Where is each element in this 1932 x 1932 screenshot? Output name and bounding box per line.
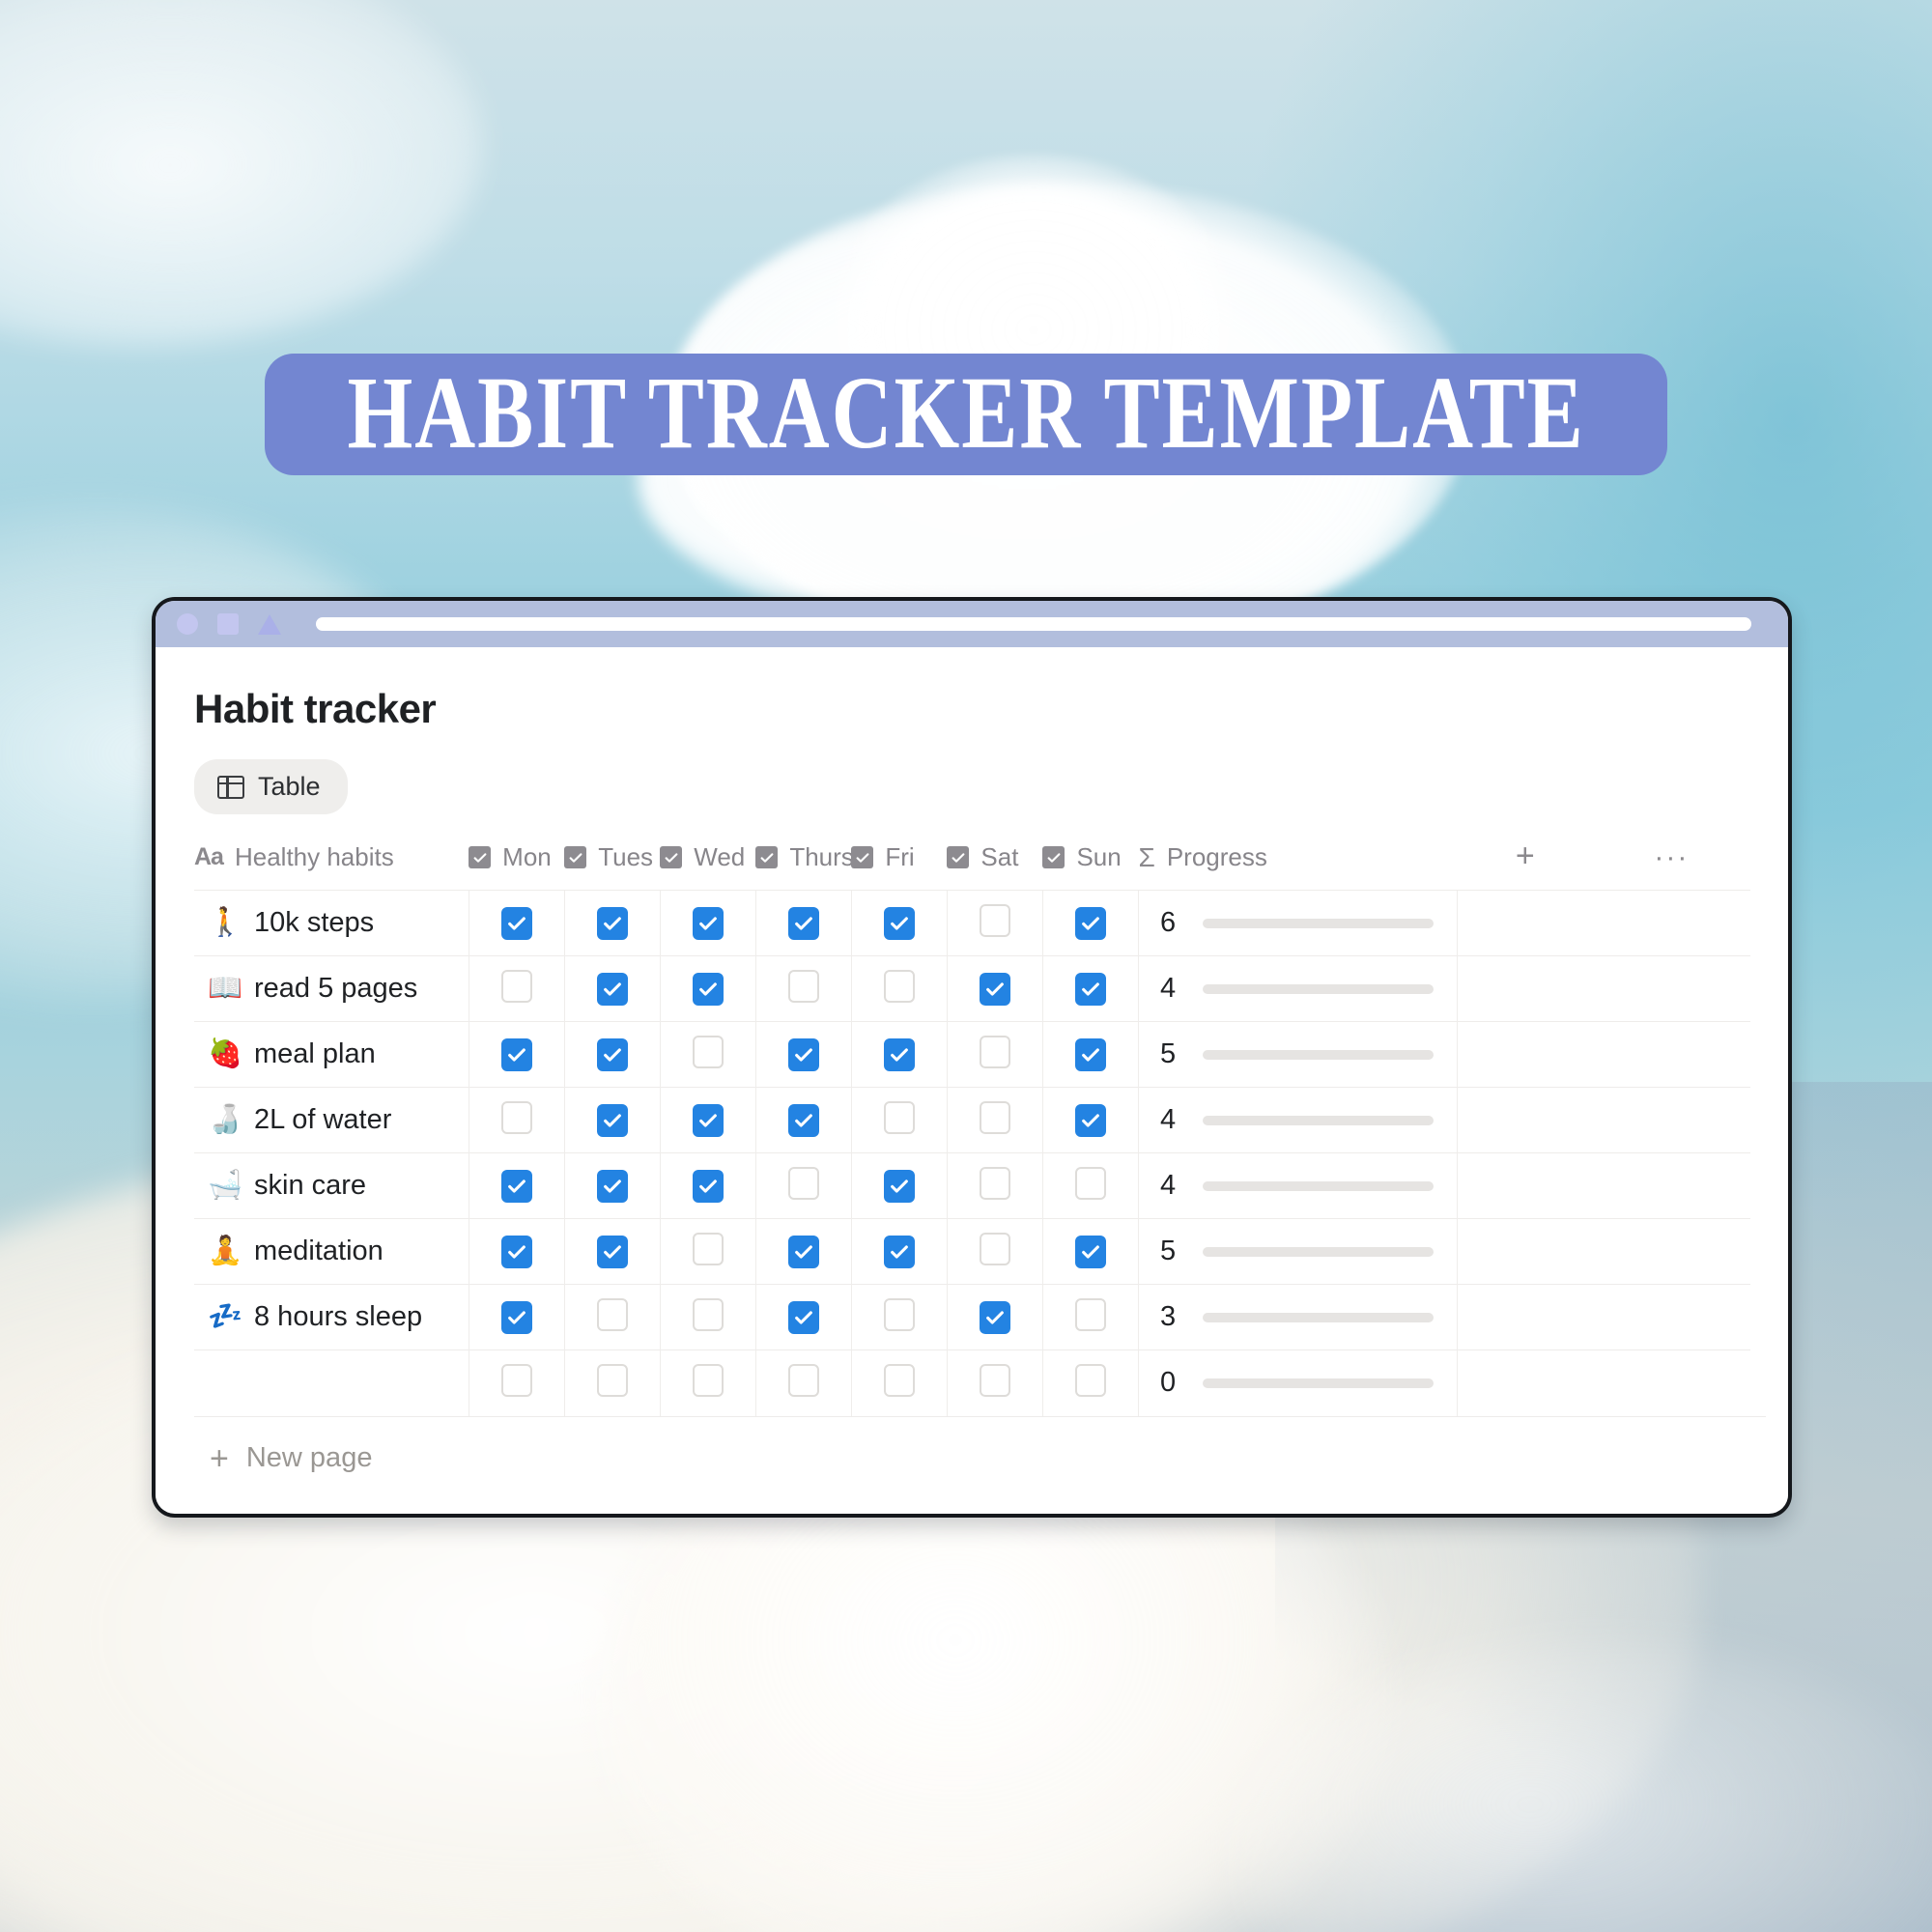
table-row[interactable]: 🍓meal plan5 — [194, 1022, 1750, 1088]
checkbox-cell-sat[interactable] — [947, 1088, 1042, 1153]
table-row[interactable]: 💤8 hours sleep3 — [194, 1285, 1750, 1350]
checkbox-sun-unchecked[interactable] — [1075, 1167, 1106, 1200]
circle-control-icon[interactable] — [177, 613, 198, 635]
habit-name-cell[interactable]: 🛁skin care — [194, 1153, 469, 1219]
checkbox-tues-checked[interactable] — [597, 1170, 628, 1203]
column-header-wed[interactable]: Wed — [660, 839, 755, 891]
checkbox-wed-unchecked[interactable] — [693, 1298, 724, 1331]
habit-name-label: meditation — [254, 1236, 384, 1267]
table-header: Aa Healthy habits Mon — [194, 839, 1750, 891]
progress-bar — [1203, 984, 1434, 994]
progress-cell: 5 — [1139, 1219, 1458, 1285]
table-row[interactable]: 🧘meditation5 — [194, 1219, 1750, 1285]
checkbox-mon-checked[interactable] — [501, 907, 532, 940]
empty-cell — [1458, 1219, 1593, 1285]
checkbox-cell-sat[interactable] — [947, 1285, 1042, 1350]
checkbox-cell-sun[interactable] — [1042, 956, 1138, 1022]
meditation-emoji: 🧘 — [208, 1237, 239, 1265]
column-header-fri-label: Fri — [885, 842, 914, 872]
sleep-zzz-emoji: 💤 — [208, 1303, 239, 1331]
checkbox-icon — [851, 846, 873, 868]
banner-title: HABIT TRACKER TEMPLATE — [347, 362, 1584, 466]
empty-cell — [1593, 1285, 1750, 1350]
habit-name-cell[interactable] — [194, 1350, 469, 1416]
progress-bar — [1203, 1181, 1434, 1191]
checkbox-cell-tues[interactable] — [564, 1350, 660, 1416]
checkbox-cell-thurs[interactable] — [755, 1350, 851, 1416]
checkbox-sat-unchecked[interactable] — [980, 1036, 1010, 1068]
add-column-button[interactable]: + — [1458, 839, 1593, 891]
habit-name-label: 8 hours sleep — [254, 1301, 422, 1333]
empty-cell — [1593, 1350, 1750, 1416]
checkbox-sun-checked[interactable] — [1075, 1038, 1106, 1071]
checkbox-cell-fri[interactable] — [851, 1022, 947, 1088]
checkbox-cell-thurs[interactable] — [755, 1219, 851, 1285]
empty-cell — [1593, 1153, 1750, 1219]
habit-name-cell[interactable]: 📖read 5 pages — [194, 956, 469, 1022]
column-header-tues-label: Tues — [598, 842, 653, 872]
habit-name-cell[interactable]: 🚶10k steps — [194, 891, 469, 956]
checkbox-sun-unchecked[interactable] — [1075, 1364, 1106, 1397]
checkbox-cell-wed[interactable] — [660, 1285, 755, 1350]
progress-value: 4 — [1160, 1170, 1181, 1202]
checkbox-cell-tues[interactable] — [564, 1219, 660, 1285]
banner: HABIT TRACKER TEMPLATE — [265, 354, 1667, 475]
checkbox-cell-tues[interactable] — [564, 1153, 660, 1219]
checkbox-thurs-checked[interactable] — [788, 1301, 819, 1334]
progress-value: 5 — [1160, 1038, 1181, 1070]
checkbox-cell-wed[interactable] — [660, 956, 755, 1022]
checkbox-cell-sun[interactable] — [1042, 1153, 1138, 1219]
checkbox-tues-checked[interactable] — [597, 1038, 628, 1071]
checkbox-cell-sun[interactable] — [1042, 1022, 1138, 1088]
progress-bar — [1203, 1116, 1434, 1125]
table-row[interactable]: 0 — [194, 1350, 1750, 1416]
checkbox-cell-sun[interactable] — [1042, 891, 1138, 956]
progress-value: 5 — [1160, 1236, 1181, 1267]
progress-bar — [1203, 1313, 1434, 1322]
progress-cell: 4 — [1139, 956, 1458, 1022]
checkbox-cell-thurs[interactable] — [755, 1088, 851, 1153]
checkbox-cell-sat[interactable] — [947, 956, 1042, 1022]
column-header-thurs-label: Thurs — [789, 842, 853, 872]
checkbox-tues-unchecked[interactable] — [597, 1298, 628, 1331]
checkbox-icon — [660, 846, 682, 868]
checkbox-wed-unchecked[interactable] — [693, 1364, 724, 1397]
checkbox-cell-wed[interactable] — [660, 1153, 755, 1219]
open-book-emoji: 📖 — [208, 975, 239, 1003]
habit-name-label: read 5 pages — [254, 973, 417, 1005]
checkbox-mon-checked[interactable] — [501, 1038, 532, 1071]
checkbox-sun-checked[interactable] — [1075, 1236, 1106, 1268]
habit-name-cell[interactable]: 🍶2L of water — [194, 1088, 469, 1153]
checkbox-wed-unchecked[interactable] — [693, 1036, 724, 1068]
progress-cell: 4 — [1139, 1153, 1458, 1219]
text-aa-icon: Aa — [194, 843, 223, 871]
checkbox-sun-checked[interactable] — [1075, 973, 1106, 1006]
plus-icon: + — [1516, 839, 1535, 872]
empty-cell — [1593, 891, 1750, 956]
checkbox-cell-fri[interactable] — [851, 1285, 947, 1350]
checkbox-cell-fri[interactable] — [851, 1219, 947, 1285]
empty-cell — [1458, 956, 1593, 1022]
checkbox-cell-mon[interactable] — [469, 956, 564, 1022]
checkbox-sat-unchecked[interactable] — [980, 1364, 1010, 1397]
walking-person-emoji: 🚶 — [208, 909, 239, 937]
checkbox-cell-fri[interactable] — [851, 1088, 947, 1153]
progress-value: 6 — [1160, 907, 1181, 939]
checkbox-sun-checked[interactable] — [1075, 907, 1106, 940]
triangle-control-icon[interactable] — [258, 614, 281, 635]
progress-cell: 5 — [1139, 1022, 1458, 1088]
checkbox-tues-checked[interactable] — [597, 907, 628, 940]
checkbox-tues-checked[interactable] — [597, 1104, 628, 1137]
checkbox-cell-fri[interactable] — [851, 1350, 947, 1416]
column-header-sat[interactable]: Sat — [947, 839, 1042, 891]
progress-cell: 4 — [1139, 1088, 1458, 1153]
checkbox-cell-thurs[interactable] — [755, 1153, 851, 1219]
checkbox-cell-wed[interactable] — [660, 891, 755, 956]
ellipsis-icon: ··· — [1654, 843, 1689, 872]
habit-name-label: 2L of water — [254, 1104, 391, 1136]
checkbox-sun-unchecked[interactable] — [1075, 1298, 1106, 1331]
table-row[interactable]: 🛁skin care4 — [194, 1153, 1750, 1219]
empty-cell — [1458, 1088, 1593, 1153]
column-header-mon[interactable]: Mon — [469, 839, 564, 891]
checkbox-mon-unchecked[interactable] — [501, 1364, 532, 1397]
checkbox-cell-tues[interactable] — [564, 1285, 660, 1350]
checkbox-icon — [469, 846, 491, 868]
sigma-icon: Σ — [1139, 844, 1155, 871]
habit-name-cell[interactable]: 🍓meal plan — [194, 1022, 469, 1088]
table-row[interactable]: 🍶2L of water4 — [194, 1088, 1750, 1153]
checkbox-icon — [564, 846, 586, 868]
checkbox-cell-thurs[interactable] — [755, 1022, 851, 1088]
checkbox-mon-checked[interactable] — [501, 1170, 532, 1203]
new-page-button[interactable]: + New page — [194, 1416, 1766, 1475]
notion-page: Habit tracker Table — [156, 647, 1788, 1510]
checkbox-thurs-checked[interactable] — [788, 1038, 819, 1071]
checkbox-cell-mon[interactable] — [469, 1088, 564, 1153]
browser-chrome — [156, 601, 1788, 647]
checkbox-cell-mon[interactable] — [469, 1285, 564, 1350]
checkbox-thurs-checked[interactable] — [788, 1236, 819, 1268]
checkbox-fri-checked[interactable] — [884, 907, 915, 940]
column-header-sun[interactable]: Sun — [1042, 839, 1138, 891]
progress-value: 3 — [1160, 1301, 1181, 1333]
habit-name-cell[interactable]: 🧘meditation — [194, 1219, 469, 1285]
table-more-options-button[interactable]: ··· — [1593, 839, 1750, 891]
table-body: 🚶10k steps6📖read 5 pages4🍓meal plan5🍶2L … — [194, 891, 1750, 1416]
habit-name-label: meal plan — [254, 1038, 376, 1070]
progress-value: 0 — [1160, 1367, 1181, 1399]
empty-cell — [1458, 1153, 1593, 1219]
column-header-progress[interactable]: Σ Progress — [1139, 839, 1458, 891]
checkbox-mon-unchecked[interactable] — [501, 1101, 532, 1134]
checkbox-fri-checked[interactable] — [884, 1236, 915, 1268]
checkbox-cell-mon[interactable] — [469, 1022, 564, 1088]
checkbox-cell-sat[interactable] — [947, 891, 1042, 956]
habit-table: Aa Healthy habits Mon — [194, 839, 1750, 1416]
checkbox-cell-sat[interactable] — [947, 1022, 1042, 1088]
habit-name-cell[interactable]: 💤8 hours sleep — [194, 1285, 469, 1350]
browser-window: Habit tracker Table — [152, 597, 1792, 1518]
table-row[interactable]: 🚶10k steps6 — [194, 891, 1750, 956]
column-header-name-label: Healthy habits — [235, 842, 394, 872]
column-header-wed-label: Wed — [694, 842, 745, 872]
bathtub-emoji: 🛁 — [208, 1172, 239, 1200]
checkbox-icon — [947, 846, 969, 868]
empty-cell — [1458, 1350, 1593, 1416]
checkbox-tues-unchecked[interactable] — [597, 1364, 628, 1397]
square-control-icon[interactable] — [217, 613, 239, 635]
checkbox-thurs-checked[interactable] — [788, 907, 819, 940]
checkbox-cell-tues[interactable] — [564, 1088, 660, 1153]
column-header-sun-label: Sun — [1076, 842, 1121, 872]
column-header-tues[interactable]: Tues — [564, 839, 660, 891]
checkbox-sun-checked[interactable] — [1075, 1104, 1106, 1137]
checkbox-thurs-checked[interactable] — [788, 1104, 819, 1137]
checkbox-cell-mon[interactable] — [469, 891, 564, 956]
address-bar[interactable] — [316, 617, 1751, 631]
page-title: Habit tracker — [194, 686, 1749, 732]
checkbox-cell-tues[interactable] — [564, 956, 660, 1022]
column-header-sat-label: Sat — [980, 842, 1018, 872]
progress-value: 4 — [1160, 1104, 1181, 1136]
checkbox-mon-checked[interactable] — [501, 1301, 532, 1334]
progress-cell: 3 — [1139, 1285, 1458, 1350]
checkbox-cell-tues[interactable] — [564, 1022, 660, 1088]
checkbox-wed-unchecked[interactable] — [693, 1233, 724, 1265]
checkbox-fri-checked[interactable] — [884, 1038, 915, 1071]
tab-table-label: Table — [258, 772, 321, 802]
checkbox-fri-unchecked[interactable] — [884, 1364, 915, 1397]
checkbox-thurs-unchecked[interactable] — [788, 1364, 819, 1397]
tab-table[interactable]: Table — [194, 759, 348, 814]
checkbox-sat-unchecked[interactable] — [980, 904, 1010, 937]
habit-name-label: 10k steps — [254, 907, 374, 939]
empty-cell — [1593, 1022, 1750, 1088]
checkbox-cell-wed[interactable] — [660, 1088, 755, 1153]
checkbox-cell-fri[interactable] — [851, 891, 947, 956]
checkbox-wed-checked[interactable] — [693, 1104, 724, 1137]
checkbox-cell-wed[interactable] — [660, 1219, 755, 1285]
column-header-progress-label: Progress — [1167, 842, 1267, 872]
table-row[interactable]: 📖read 5 pages4 — [194, 956, 1750, 1022]
checkbox-sat-unchecked[interactable] — [980, 1101, 1010, 1134]
column-header-thurs[interactable]: Thurs — [755, 839, 851, 891]
empty-cell — [1593, 956, 1750, 1022]
checkbox-cell-sun[interactable] — [1042, 1219, 1138, 1285]
progress-value: 4 — [1160, 973, 1181, 1005]
water-bottle-emoji: 🍶 — [208, 1106, 239, 1134]
checkbox-wed-checked[interactable] — [693, 1170, 724, 1203]
checkbox-cell-thurs[interactable] — [755, 891, 851, 956]
checkbox-sat-checked[interactable] — [980, 973, 1010, 1006]
progress-bar — [1203, 1050, 1434, 1060]
checkbox-wed-checked[interactable] — [693, 973, 724, 1006]
checkbox-cell-sun[interactable] — [1042, 1350, 1138, 1416]
checkbox-cell-sun[interactable] — [1042, 1088, 1138, 1153]
checkbox-cell-mon[interactable] — [469, 1219, 564, 1285]
checkbox-thurs-unchecked[interactable] — [788, 970, 819, 1003]
view-tabs: Table — [194, 759, 1749, 814]
checkbox-cell-wed[interactable] — [660, 1022, 755, 1088]
checkbox-fri-unchecked[interactable] — [884, 970, 915, 1003]
checkbox-wed-checked[interactable] — [693, 907, 724, 940]
checkbox-fri-unchecked[interactable] — [884, 1298, 915, 1331]
new-page-label: New page — [246, 1442, 373, 1474]
column-header-name[interactable]: Aa Healthy habits — [194, 839, 469, 891]
checkbox-cell-thurs[interactable] — [755, 956, 851, 1022]
checkbox-sat-unchecked[interactable] — [980, 1167, 1010, 1200]
checkbox-cell-mon[interactable] — [469, 1153, 564, 1219]
checkbox-mon-unchecked[interactable] — [501, 970, 532, 1003]
empty-cell — [1458, 1285, 1593, 1350]
progress-cell: 0 — [1139, 1350, 1458, 1416]
checkbox-cell-sat[interactable] — [947, 1153, 1042, 1219]
checkbox-icon — [1042, 846, 1065, 868]
column-header-fri[interactable]: Fri — [851, 839, 947, 891]
checkbox-thurs-unchecked[interactable] — [788, 1167, 819, 1200]
checkbox-tues-checked[interactable] — [597, 973, 628, 1006]
checkbox-cell-fri[interactable] — [851, 956, 947, 1022]
checkbox-icon — [755, 846, 778, 868]
checkbox-fri-checked[interactable] — [884, 1170, 915, 1203]
checkbox-cell-tues[interactable] — [564, 891, 660, 956]
checkbox-cell-wed[interactable] — [660, 1350, 755, 1416]
empty-cell — [1458, 891, 1593, 956]
checkbox-sat-checked[interactable] — [980, 1301, 1010, 1334]
plus-icon: + — [210, 1442, 229, 1475]
progress-bar — [1203, 1378, 1434, 1388]
window-controls — [177, 613, 281, 635]
checkbox-cell-fri[interactable] — [851, 1153, 947, 1219]
checkbox-fri-unchecked[interactable] — [884, 1101, 915, 1134]
table-icon — [217, 776, 244, 799]
checkbox-cell-sat[interactable] — [947, 1350, 1042, 1416]
empty-cell — [1593, 1219, 1750, 1285]
checkbox-sat-unchecked[interactable] — [980, 1233, 1010, 1265]
habit-name-label: skin care — [254, 1170, 366, 1202]
checkbox-mon-checked[interactable] — [501, 1236, 532, 1268]
checkbox-cell-thurs[interactable] — [755, 1285, 851, 1350]
progress-cell: 6 — [1139, 891, 1458, 956]
checkbox-tues-checked[interactable] — [597, 1236, 628, 1268]
checkbox-cell-mon[interactable] — [469, 1350, 564, 1416]
checkbox-cell-sat[interactable] — [947, 1219, 1042, 1285]
progress-bar — [1203, 919, 1434, 928]
progress-bar — [1203, 1247, 1434, 1257]
empty-cell — [1458, 1022, 1593, 1088]
column-header-mon-label: Mon — [502, 842, 552, 872]
strawberry-emoji: 🍓 — [208, 1040, 239, 1068]
checkbox-cell-sun[interactable] — [1042, 1285, 1138, 1350]
empty-cell — [1593, 1088, 1750, 1153]
